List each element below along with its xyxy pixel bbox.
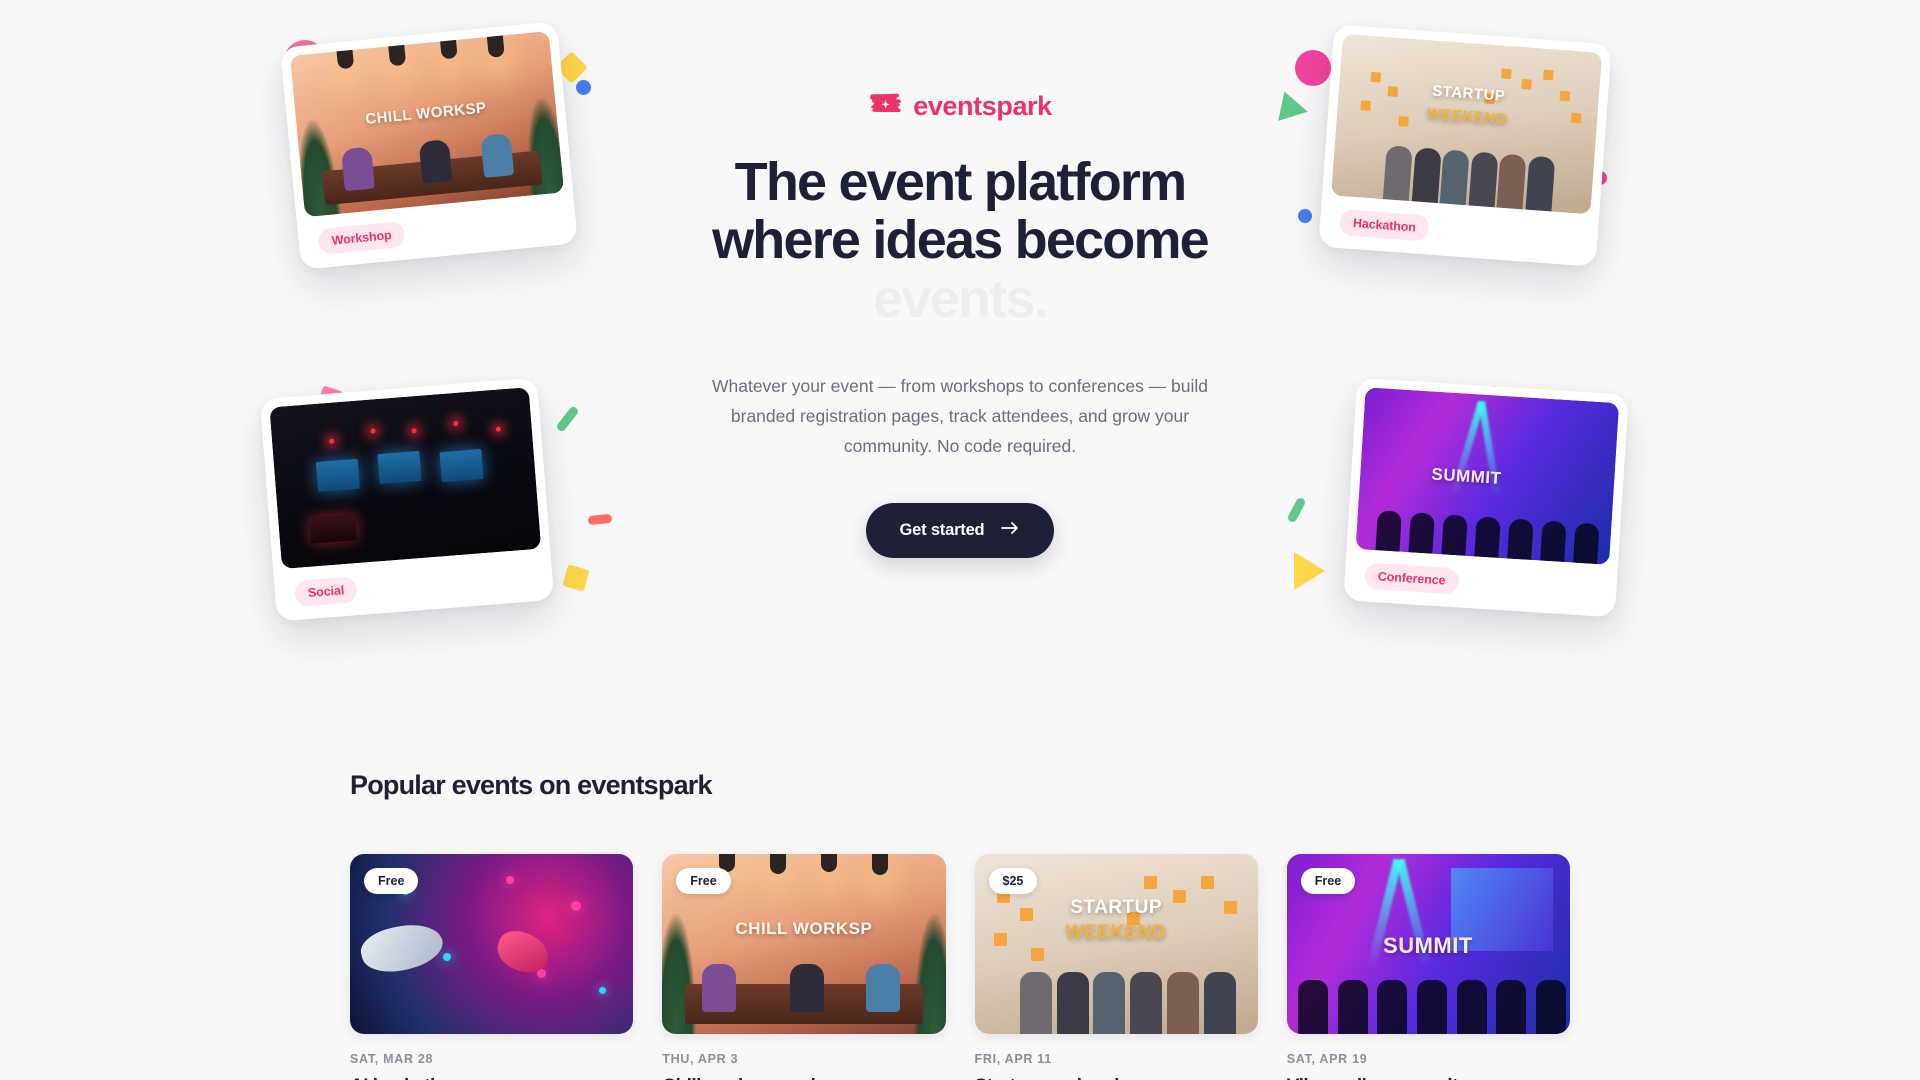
get-started-label: Get started bbox=[900, 521, 985, 540]
decor-circle-pink-topright bbox=[1295, 50, 1331, 86]
floating-card-photo bbox=[269, 387, 541, 569]
landing-page: CHILL WORKSP Workshop bbox=[0, 0, 1920, 1080]
event-card[interactable]: $25 STARTUP WEEKEND bbox=[975, 854, 1258, 1080]
event-name: Vibe coding summit bbox=[1287, 1075, 1570, 1080]
event-thumbnail: Free bbox=[350, 854, 633, 1034]
price-badge: $25 bbox=[989, 868, 1038, 894]
floating-card-workshop[interactable]: CHILL WORKSP Workshop bbox=[280, 21, 578, 270]
page-title: The event platform where ideas become ev… bbox=[580, 153, 1340, 328]
hero-section: CHILL WORKSP Workshop bbox=[0, 0, 1920, 700]
event-date: SAT, MAR 28 bbox=[350, 1052, 633, 1066]
floating-card-hackathon[interactable]: STARTUP WEEKEND Hackathon bbox=[1318, 24, 1612, 267]
floating-card-photo: CHILL WORKSP bbox=[290, 31, 564, 217]
category-badge: Social bbox=[294, 576, 358, 607]
category-badge: Workshop bbox=[317, 221, 405, 255]
headline-line-2: where ideas become bbox=[580, 211, 1340, 269]
headline-line-3: events. bbox=[580, 270, 1340, 328]
floating-card-social[interactable]: Social bbox=[260, 377, 555, 621]
event-name: Startup weekend bbox=[975, 1075, 1258, 1080]
event-date: FRI, APR 11 bbox=[975, 1052, 1258, 1066]
hero-content: eventspark The event platform where idea… bbox=[580, 92, 1340, 558]
brand-name: eventspark bbox=[913, 93, 1052, 120]
brand-logo[interactable]: eventspark bbox=[580, 92, 1340, 121]
decor-bar-green-bottomleft bbox=[555, 405, 579, 433]
event-thumbnail: Free SUMMIT bbox=[1287, 854, 1570, 1034]
floating-card-photo: SUMMIT bbox=[1356, 387, 1620, 565]
event-thumbnail: $25 STARTUP WEEKEND bbox=[975, 854, 1258, 1034]
event-card[interactable]: Free SUMMIT bbox=[1287, 854, 1570, 1080]
category-badge: Conference bbox=[1364, 563, 1459, 595]
price-badge: Free bbox=[676, 868, 730, 894]
arrow-right-icon bbox=[1001, 521, 1020, 540]
get-started-button[interactable]: Get started bbox=[866, 503, 1055, 558]
headline-line-1: The event platform bbox=[580, 153, 1340, 211]
price-badge: Free bbox=[1301, 868, 1355, 894]
events-grid: Free SAT, MAR 28 AI hac bbox=[350, 854, 1570, 1080]
category-badge: Hackathon bbox=[1339, 209, 1430, 241]
event-name: Chill workspace day bbox=[662, 1075, 945, 1080]
section-title: Popular events on eventspark bbox=[350, 700, 1570, 801]
event-name: AI hackathon bbox=[350, 1075, 633, 1080]
popular-events-section: Popular events on eventspark Free bbox=[0, 700, 1920, 1080]
event-date: SAT, APR 19 bbox=[1287, 1052, 1570, 1066]
price-badge: Free bbox=[364, 868, 418, 894]
ticket-sparkle-icon bbox=[868, 92, 902, 121]
decor-square-yellow-bottomleft bbox=[562, 564, 589, 591]
hero-subheading: Whatever your event — from workshops to … bbox=[700, 371, 1220, 461]
floating-card-photo: STARTUP WEEKEND bbox=[1331, 34, 1602, 215]
event-date: THU, APR 3 bbox=[662, 1052, 945, 1066]
floating-card-conference[interactable]: SUMMIT Conference bbox=[1343, 378, 1628, 618]
event-thumbnail: Free CHILL WORKSP bbox=[662, 854, 945, 1034]
event-card[interactable]: Free SAT, MAR 28 AI hac bbox=[350, 854, 633, 1080]
event-card[interactable]: Free CHILL WORKSP bbox=[662, 854, 945, 1080]
